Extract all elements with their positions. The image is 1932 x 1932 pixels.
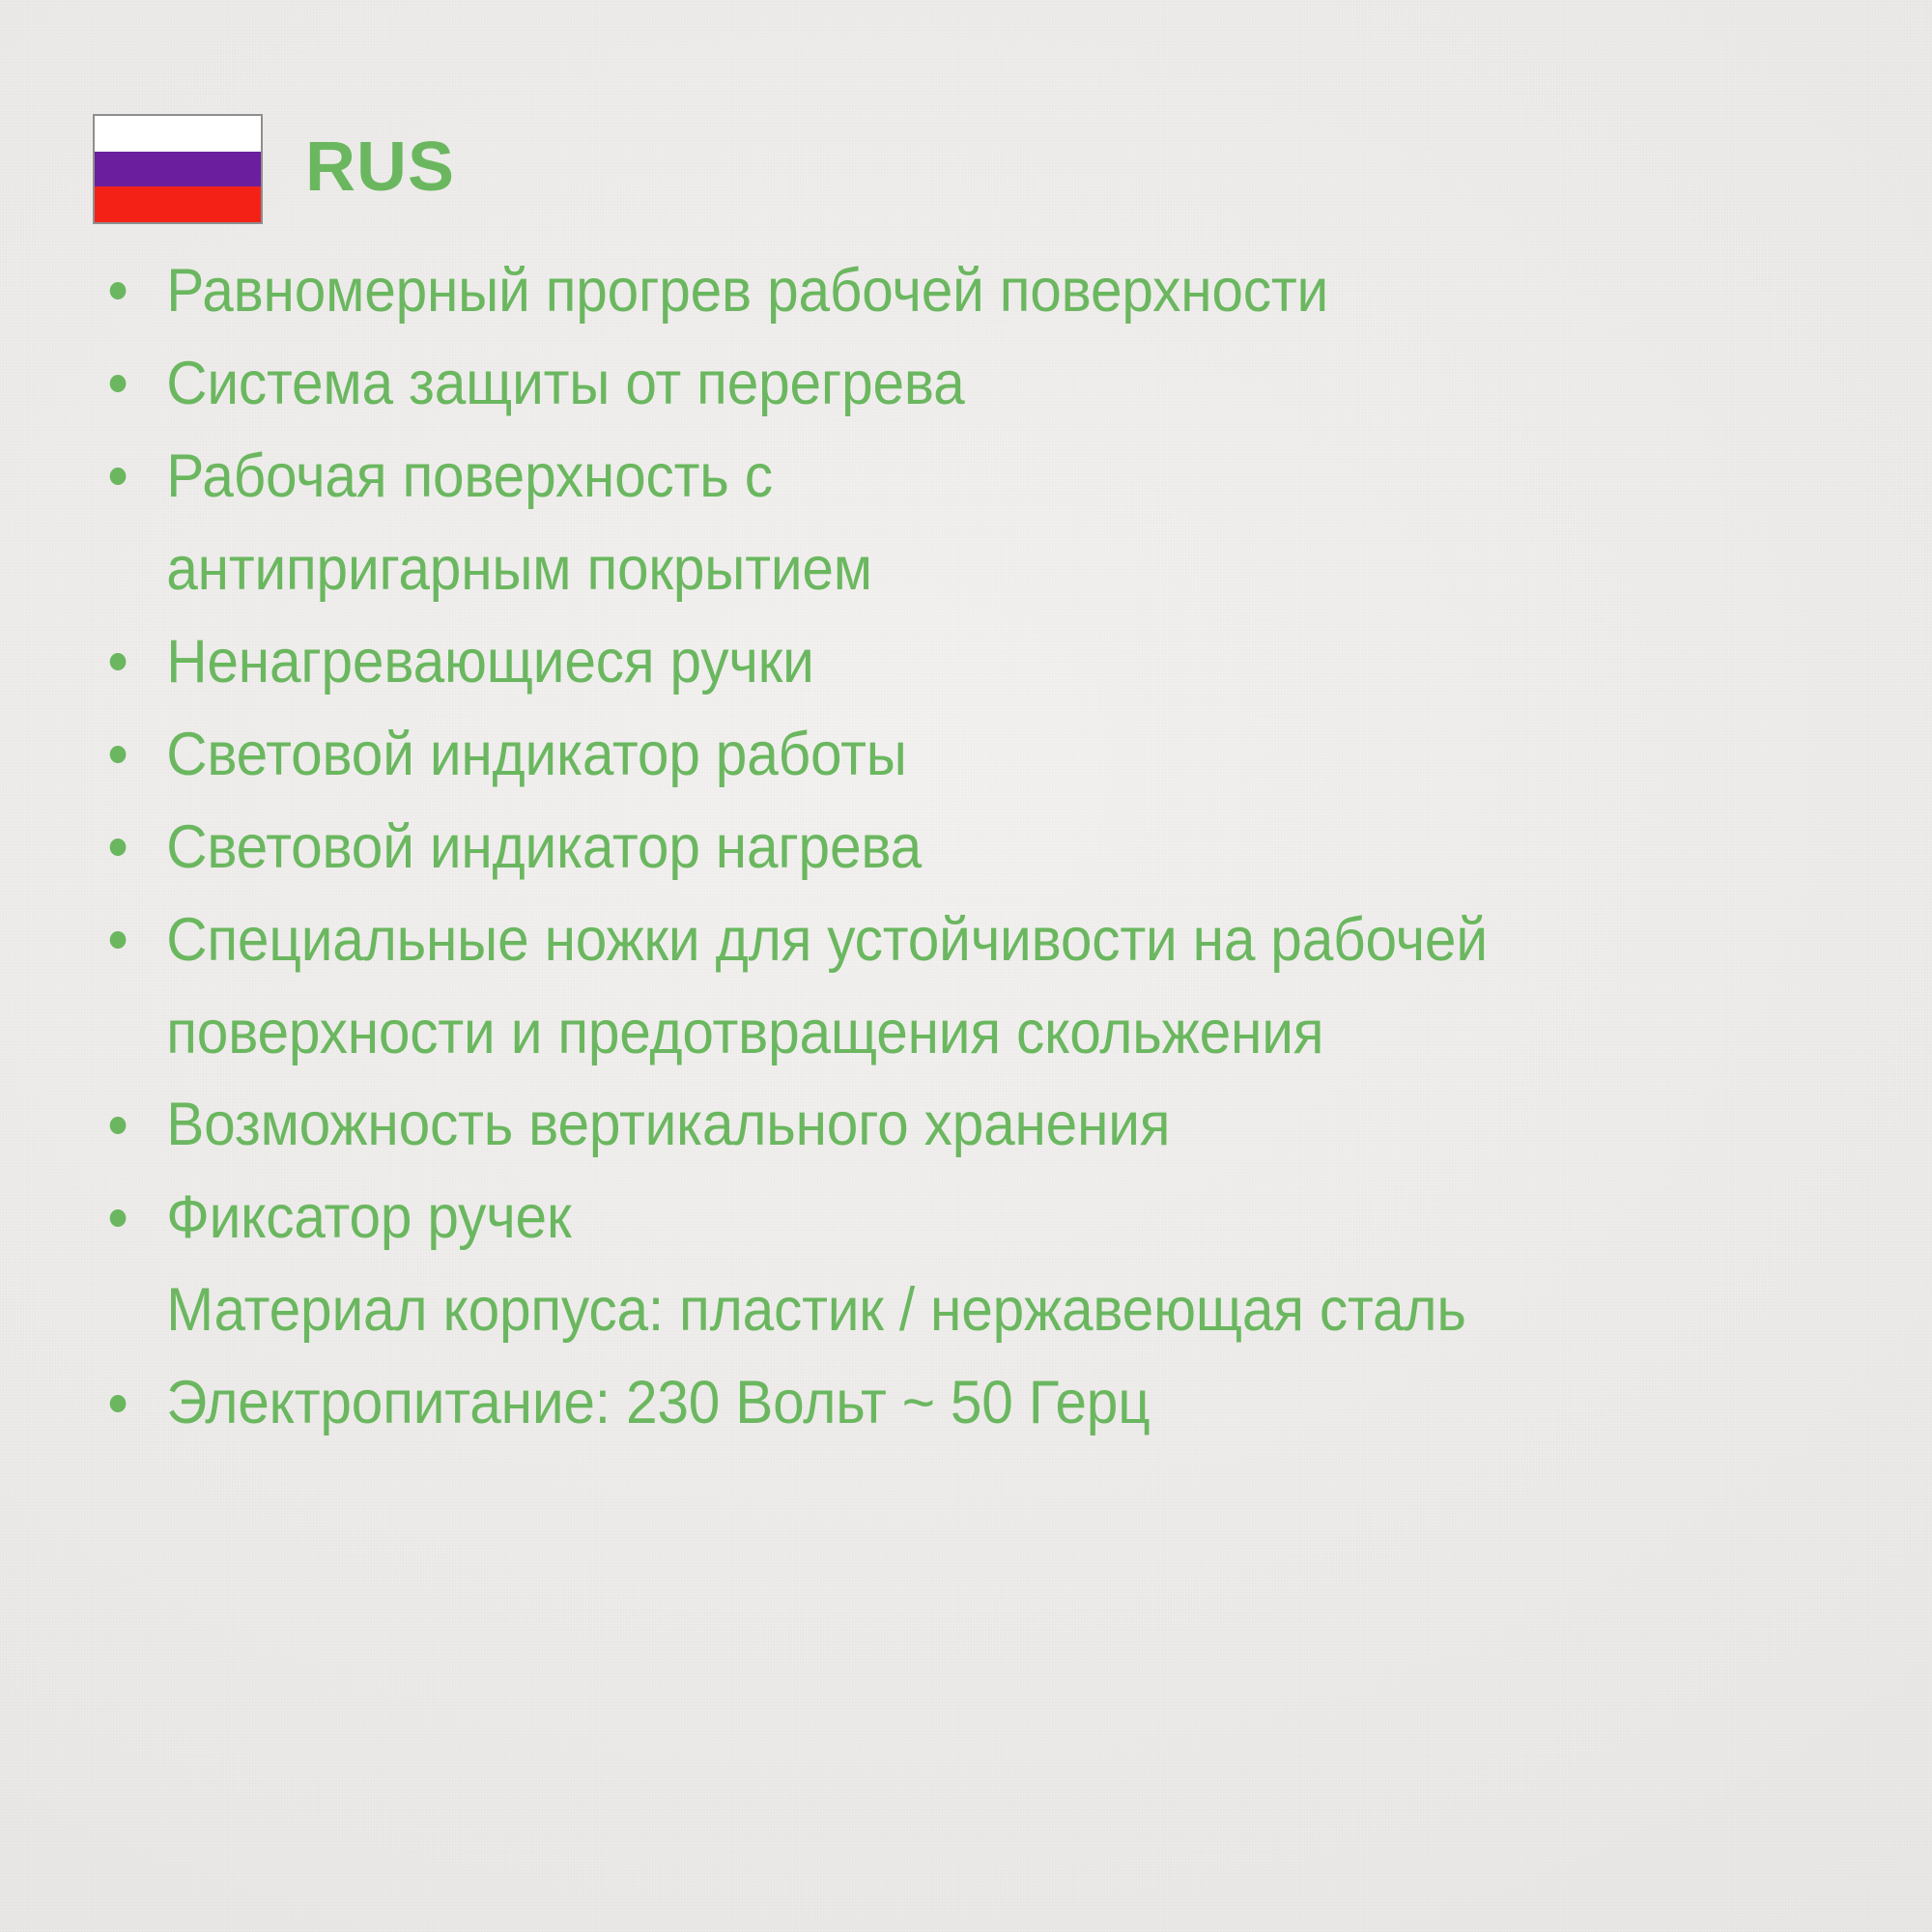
feature-item: Световой индикатор работы: [93, 713, 1768, 797]
feature-item: Возможность вертикального хранения: [93, 1083, 1768, 1167]
feature-list: Равномерный прогрев рабочей поверхностиС…: [93, 249, 1893, 1454]
feature-item: Рабочая поверхность с: [93, 435, 1768, 519]
feature-item: Электропитание: 230 Вольт ~ 50 Герц: [93, 1361, 1768, 1445]
feature-item: антипригарным покрытием: [93, 527, 1768, 611]
flag-band-white: [95, 116, 261, 152]
language-header: RUS: [93, 114, 455, 224]
feature-item: Световой индикатор нагрева: [93, 806, 1768, 890]
feature-item: Система защиты от перегрева: [93, 342, 1768, 426]
language-code-label: RUS: [305, 132, 455, 206]
russia-flag-icon: [93, 114, 263, 224]
feature-item: Материал корпуса: пластик / нержавеющая …: [93, 1268, 1768, 1352]
feature-item: Равномерный прогрев рабочей поверхности: [93, 249, 1768, 333]
feature-item: Ненагревающиеся ручки: [93, 620, 1768, 704]
flag-band-blue: [95, 152, 261, 187]
feature-item: Фиксатор ручек: [93, 1176, 1768, 1260]
feature-item: поверхности и предотвращения скольжения: [93, 991, 1768, 1075]
product-feature-panel: RUS Равномерный прогрев рабочей поверхно…: [0, 0, 1932, 1932]
flag-band-red: [95, 186, 261, 222]
feature-item: Специальные ножки для устойчивости на ра…: [93, 898, 1768, 982]
